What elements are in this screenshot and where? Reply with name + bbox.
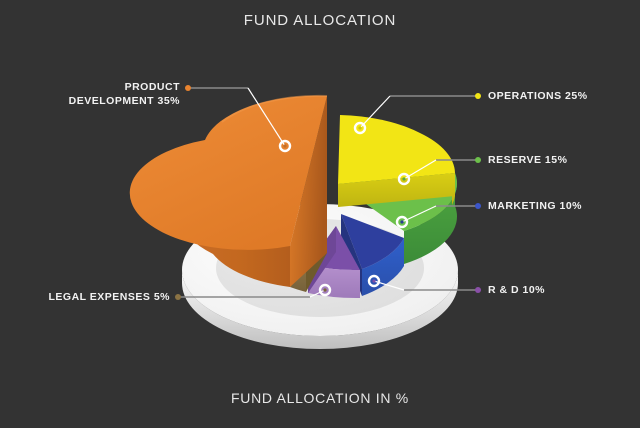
label-product-development-line1: PRODUCT [125,81,180,93]
label-reserve[interactable]: RESERVE 15% [488,153,567,167]
label-operations[interactable]: OPERATIONS 25% [488,89,588,103]
pie-3d-graphic [0,0,640,428]
label-product-development[interactable]: PRODUCT DEVELOPMENT 35% [50,80,180,108]
chart-caption: FUND ALLOCATION IN % [0,390,640,406]
fund-allocation-chart: FUND ALLOCATION [0,0,640,428]
label-product-development-line2: DEVELOPMENT 35% [50,94,180,108]
label-marketing[interactable]: MARKETING 10% [488,199,582,213]
label-rd[interactable]: R & D 10% [488,283,545,297]
slice-product-development[interactable] [130,96,327,287]
label-legal-expenses[interactable]: LEGAL EXPENSES 5% [20,290,170,304]
